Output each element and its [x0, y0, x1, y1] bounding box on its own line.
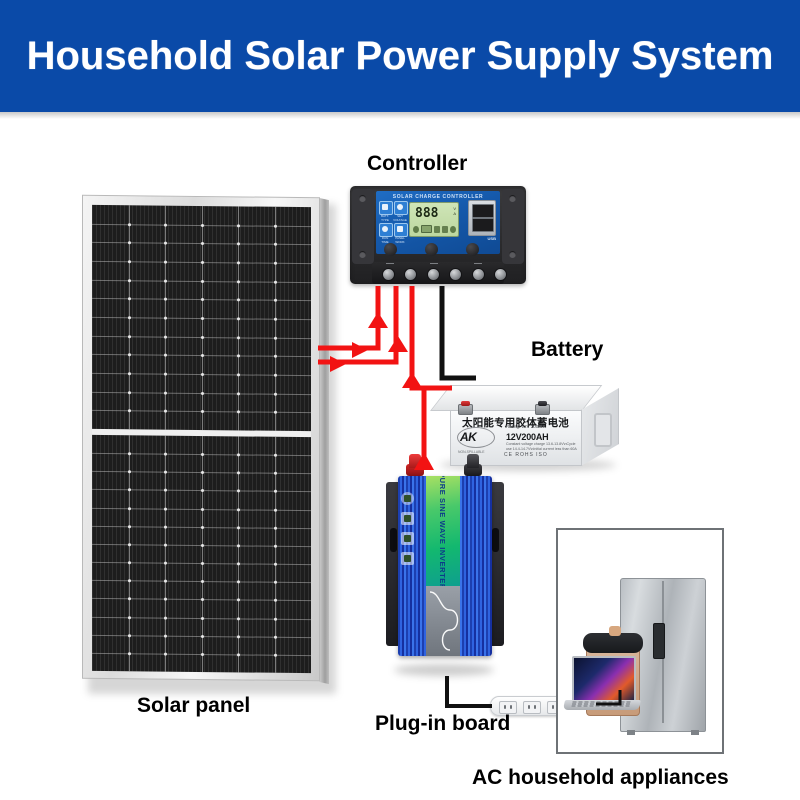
usb-port-2[interactable] — [472, 218, 494, 232]
refrigerator-handle — [653, 623, 665, 659]
lcd-units: VA — [453, 207, 456, 217]
wire-inverter-to-strip — [447, 676, 492, 706]
battery-spec-line: Rating: 12V 200Ah — [506, 424, 544, 430]
controller-buttons[interactable] — [378, 243, 498, 257]
inverter-terminal-positive — [406, 454, 424, 476]
terminal-screw-1[interactable] — [382, 268, 395, 281]
key-run-time[interactable] — [379, 223, 393, 237]
controller-terminal-block[interactable] — [372, 262, 504, 284]
battery-top-face — [430, 385, 602, 411]
controller-mount-right — [502, 189, 524, 264]
key-set-voltage[interactable] — [394, 201, 408, 215]
inverter-lower-panel: POWER — [426, 586, 460, 656]
arrow-right-pv1 — [352, 342, 368, 358]
sine-wave-graphic — [426, 586, 460, 656]
wire-pv-arrowheads — [330, 312, 408, 372]
battery-brand: AK — [460, 430, 476, 444]
usb-port-1[interactable] — [472, 204, 494, 218]
solar-panel-edge — [319, 198, 329, 684]
solar-panel-frame — [82, 195, 320, 681]
battery-model: 12V200AH — [506, 432, 548, 442]
inverter-housing: PURE SINE WAVE INVERTER POWER — [398, 476, 492, 656]
battery-certification-marks: CE ROHS ISO — [504, 452, 548, 458]
inverter-terminal-negative — [464, 454, 482, 476]
arrow-up-pv1 — [388, 336, 408, 352]
solar-panel-half-bottom — [92, 435, 311, 673]
refrigerator-foot — [627, 730, 635, 735]
key-label: SET VOLTAGE — [393, 214, 407, 222]
screw-hole — [509, 195, 516, 202]
solar-panel-half-top — [92, 205, 311, 431]
button-menu[interactable] — [384, 243, 397, 256]
terminal-cap-red — [461, 401, 470, 406]
bulb-icon — [450, 226, 456, 233]
battery-handle — [594, 413, 612, 447]
inverter: PURE SINE WAVE INVERTER POWER — [386, 468, 504, 676]
button-down[interactable] — [466, 243, 479, 256]
key-label: BATT. TYPE — [378, 214, 392, 222]
refrigerator-foot — [691, 730, 699, 735]
lcd-display: 888 VA — [409, 202, 459, 237]
solar-panel-glass — [92, 205, 311, 673]
controller-mount-left — [352, 189, 374, 264]
inverter-front-panel: PURE SINE WAVE INVERTER — [426, 476, 460, 586]
controller-function-keys[interactable]: BATT. TYPESET VOLTAGERUN TIMEPANEL WORK — [379, 201, 406, 241]
screw-hole — [509, 251, 516, 258]
solar-cell-grid-top — [92, 205, 311, 431]
label-plug-in-board: Plug-in board — [375, 712, 510, 736]
solar-panel — [82, 196, 332, 688]
arrow-up-pv2 — [368, 312, 388, 328]
wire-controller-to-battery — [442, 286, 476, 378]
key-battery-type[interactable] — [379, 201, 393, 215]
lcd-value: 888 — [415, 206, 438, 221]
charge-controller[interactable]: SOLAR CHARGE CONTROLLER BATT. TYPESET VO… — [350, 186, 526, 284]
terminal-screw-4[interactable] — [449, 268, 462, 281]
usb-label: USB — [488, 236, 496, 241]
terminal-group-mark — [386, 263, 394, 267]
label-battery: Battery — [531, 338, 603, 362]
power-led-icon — [401, 492, 414, 505]
battery-icon — [421, 225, 432, 233]
diagram-canvas: Household Solar Power Supply System Sola… — [0, 0, 800, 800]
solar-cell-grid-bottom — [92, 435, 311, 673]
terminal-cap-black — [538, 401, 547, 406]
load-icon — [434, 226, 440, 233]
inverter-panel-text: PURE SINE WAVE INVERTER — [426, 476, 460, 586]
laptop — [564, 656, 638, 714]
arrow-down-batt — [402, 372, 422, 388]
terminal-group-mark — [430, 263, 438, 267]
screw-hole — [359, 251, 366, 258]
lcd-status-icons — [413, 224, 456, 234]
terminal-screw-6[interactable] — [494, 268, 507, 281]
label-ac-appliances: AC household appliances — [472, 766, 729, 790]
terminal-screw-3[interactable] — [427, 268, 440, 281]
title-banner: Household Solar Power Supply System — [0, 0, 800, 112]
laptop-keyboard — [571, 701, 630, 707]
fuse-icon — [401, 512, 414, 525]
terminal-screw-2[interactable] — [404, 268, 417, 281]
usb-ports[interactable] — [468, 200, 496, 236]
cooker-knob — [609, 626, 621, 636]
battery: 太阳能专用胶体蓄电池 AK Rating: 12V 200Ah 12V200AH… — [430, 385, 620, 475]
panel-icon — [442, 226, 448, 233]
inverter-indicator-icons — [401, 492, 416, 572]
switch-icon — [401, 552, 414, 565]
screw-hole — [359, 195, 366, 202]
terminal-screw-5[interactable] — [472, 268, 485, 281]
button-up[interactable] — [425, 243, 438, 256]
sun-icon — [413, 226, 419, 233]
inverter-shadow — [394, 664, 494, 676]
cooker-lid — [583, 633, 643, 653]
label-solar-panel: Solar panel — [137, 694, 250, 718]
battery-fine-print: Constant voltage charge 13.6-13.8V\nCycl… — [506, 442, 578, 451]
label-controller: Controller — [367, 152, 467, 176]
terminal-group-mark — [474, 263, 482, 267]
appliances-box — [556, 528, 724, 754]
laptop-screen — [572, 656, 636, 704]
page-title: Household Solar Power Supply System — [0, 0, 800, 112]
key-panel-lock[interactable] — [394, 223, 408, 237]
socket-2[interactable] — [523, 701, 541, 714]
banner-shadow — [0, 112, 800, 119]
socket-icon — [401, 532, 414, 545]
